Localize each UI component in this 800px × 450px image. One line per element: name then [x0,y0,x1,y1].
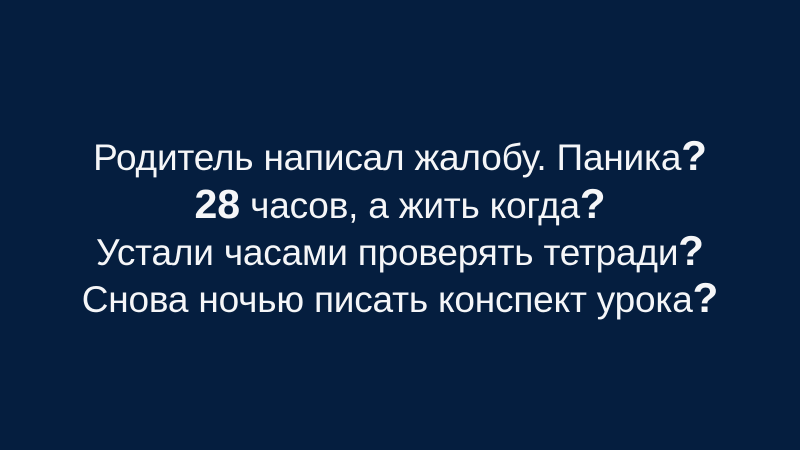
headline-line-4-text: Снова ночью писать конспект урока [82,279,693,320]
headline-line-1-question-mark: ? [681,132,707,179]
headline-line-3-text: Устали часами проверять тетради [96,232,678,273]
headline-line-3-question-mark: ? [678,227,704,274]
headline-line-4: Снова ночью писать конспект урока? [0,276,800,323]
headline-line-2-question-mark: ? [580,180,606,227]
headline-line-4-question-mark: ? [693,274,719,321]
headline-line-2-text: часов, а жить когда [240,185,580,226]
headline-line-2: 28 часов, а жить когда? [0,181,800,229]
headline-block: Родитель написал жалобу. Паника? 28 часо… [0,0,800,450]
headline-line-2-number: 28 [194,181,240,227]
slide-canvas: Родитель написал жалобу. Паника? 28 часо… [0,0,800,450]
headline-line-3: Устали часами проверять тетради? [0,229,800,276]
headline-line-1-text: Родитель написал жалобу. Паника [93,137,681,178]
headline-line-1: Родитель написал жалобу. Паника? [0,134,800,181]
